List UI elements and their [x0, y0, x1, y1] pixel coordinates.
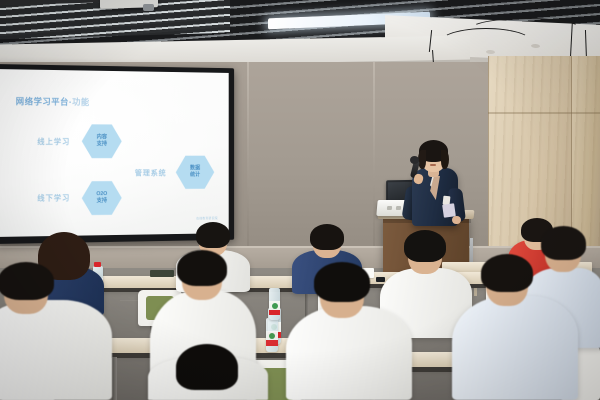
attendee-front-center-hair — [314, 262, 370, 302]
attendee-front-left-center-hair — [177, 250, 227, 286]
projection-screen-frame: 网络学习平台·功能 线上学习 线下学习 管理系统 内容 支持 O2O 支持 数据… — [0, 64, 234, 244]
presenter-hair-side — [441, 150, 449, 169]
bottle-label-band — [266, 340, 278, 346]
wall-seam — [373, 62, 375, 262]
bottle-label-logo-icon — [272, 303, 278, 309]
hex-line2: 支持 — [97, 198, 107, 205]
hex-line1: 数据 — [190, 165, 200, 172]
attendee-far-right-hair — [541, 226, 586, 260]
conference-room-photo: 网络学习平台·功能 线上学习 线下学习 管理系统 内容 支持 O2O 支持 数据… — [0, 0, 600, 400]
projection-screen: 网络学习平台·功能 线上学习 线下学习 管理系统 内容 支持 O2O 支持 数据… — [0, 69, 229, 237]
attendee-bottom-center-hair — [176, 344, 238, 390]
slide-title: 网络学习平台·功能 — [16, 95, 90, 108]
slide-label-online: 线上学习 — [37, 136, 70, 147]
presenter-hair-side — [418, 150, 426, 169]
water-bottle — [269, 288, 280, 320]
attendee-front-center-body — [286, 306, 412, 400]
bottle-label — [266, 331, 278, 346]
hex-line2: 统计 — [190, 172, 200, 179]
console-button[interactable] — [396, 206, 401, 210]
bottle-label-logo-icon — [269, 333, 275, 339]
hanging-cable — [470, 18, 582, 40]
attendee-mid-right-hair — [310, 224, 344, 250]
attendee-front-left-hair — [0, 262, 54, 300]
bottle-cap — [94, 262, 101, 267]
notebook — [150, 270, 174, 277]
attendee-front-right-hair — [481, 254, 533, 292]
microphone-head-icon — [410, 156, 419, 164]
hex-line1: 内容 — [97, 134, 107, 141]
presenter-mouth — [430, 164, 436, 166]
hex-line1: O2O — [96, 191, 107, 198]
hex-line2: 支持 — [97, 141, 107, 148]
wood-column-seam — [488, 56, 490, 266]
slide-label-management: 管理系统 — [135, 168, 167, 179]
attendee-front-right-body — [452, 296, 578, 400]
soffit-downlight-icon — [531, 44, 540, 48]
slide-title-main: 网络学习平台 — [16, 96, 69, 106]
bottle-label-band — [269, 310, 280, 315]
bottle-label — [269, 301, 280, 315]
slide-label-offline: 线下学习 — [37, 192, 70, 203]
water-bottle — [266, 318, 278, 352]
wall-wainscot-line — [0, 246, 600, 248]
attendee-mid-center-hair — [404, 230, 446, 262]
attendee-front-left-body — [0, 300, 112, 400]
slide-watermark: 在线教育研究院 — [196, 216, 218, 220]
console-button[interactable] — [387, 206, 392, 210]
wood-column-seam — [488, 112, 600, 114]
desk-leg — [112, 357, 117, 400]
presenter-hand — [452, 216, 461, 224]
attendee-back-center-hair — [196, 222, 230, 248]
slide-title-sub: 功能 — [72, 97, 89, 107]
wall-seam — [247, 62, 249, 262]
projector-lens-icon — [143, 4, 154, 11]
smartphone — [376, 277, 385, 282]
